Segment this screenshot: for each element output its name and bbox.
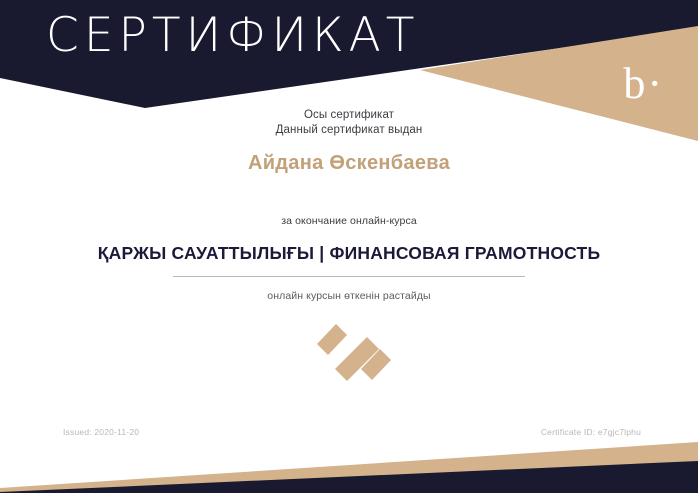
- brand-b-dot-logo: b·: [623, 62, 664, 106]
- completion-confirmation-line: онлайн курсын өткенін растайды: [0, 290, 698, 302]
- certificate-body: Осы сертификат Данный сертификат выдан А…: [0, 108, 698, 302]
- three-slanted-bars-emblem: [299, 316, 399, 384]
- course-title: ҚАРЖЫ САУАТТЫЛЫҒЫ | ФИНАНСОВАЯ ГРАМОТНОС…: [0, 243, 698, 264]
- emblem-bar-top-left: [317, 324, 347, 355]
- title-divider: [173, 276, 525, 277]
- award-reason-line: за окончание онлайн-курса: [0, 215, 698, 227]
- page-title: СЕРТИФИКАТ: [46, 12, 420, 59]
- footer-tan-stripe: [0, 442, 698, 492]
- intro-line-russian: Данный сертификат выдан: [0, 123, 698, 138]
- intro-line-kazakh: Осы сертификат: [0, 108, 698, 123]
- recipient-name: Айдана Өскенбаева: [0, 152, 698, 175]
- footer-navy-shape: [0, 459, 698, 493]
- certificate-document: СЕРТИФИКАТ b· Осы сертификат Данный серт…: [0, 0, 698, 493]
- certificate-id-label: Certificate ID: e7gjc7lphu: [541, 427, 641, 437]
- issued-date-label: Issued: 2020-11-20: [63, 427, 139, 437]
